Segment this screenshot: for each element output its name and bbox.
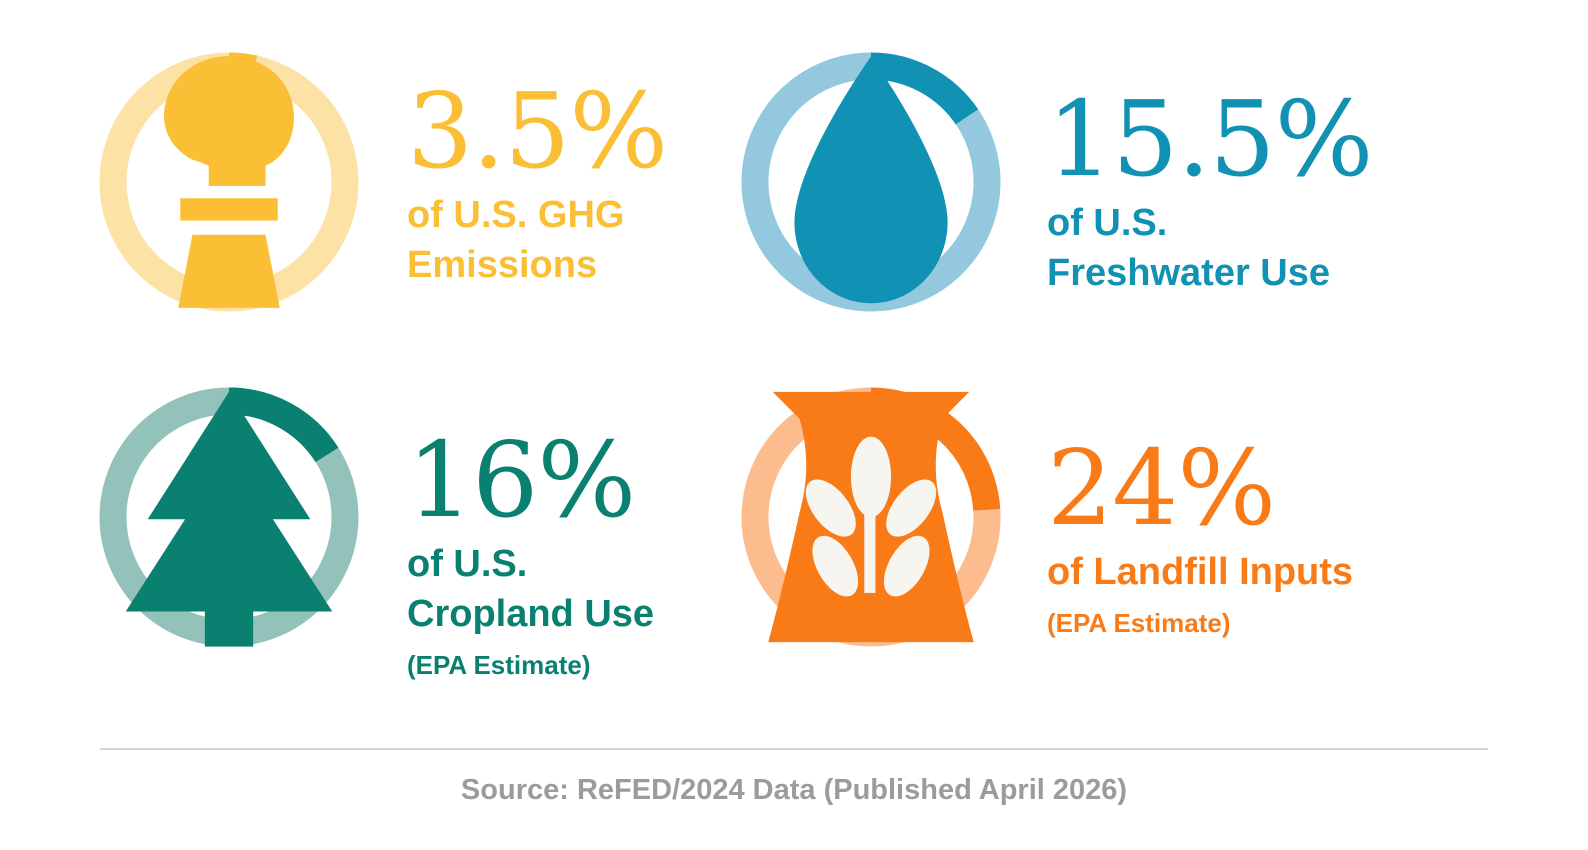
donut-svg-ghg	[95, 48, 363, 316]
footer: Source: ReFED/2024 Data (Published April…	[0, 740, 1588, 850]
infographic-root: 3.5% of U.S. GHG Emissions	[0, 0, 1588, 850]
donut-svg-landfill	[737, 383, 1005, 651]
donut-chart-cropland	[95, 383, 363, 651]
stat-note-landfill: (EPA Estimate)	[1047, 605, 1231, 641]
stat-label-ghg-line1: of U.S. GHG	[407, 194, 624, 236]
stat-text-freshwater: 15.5% of U.S. Freshwater Use	[1005, 48, 1435, 298]
stat-label-ghg: of U.S. GHG Emissions	[407, 190, 624, 290]
stat-label-cropland: of U.S. Cropland Use	[407, 539, 654, 639]
donut-svg-freshwater	[737, 48, 1005, 316]
stat-text-landfill: 24% of Landfill Inputs (EPA Estimate)	[1005, 383, 1435, 642]
stat-label-freshwater-line2: Freshwater Use	[1047, 252, 1330, 294]
stat-value-cropland: 16%	[407, 427, 635, 533]
stat-label-landfill-line1: of Landfill Inputs	[1047, 551, 1353, 593]
donut-chart-landfill	[737, 383, 1005, 651]
footer-divider	[100, 748, 1488, 750]
stat-value-freshwater: 15.5%	[1047, 86, 1372, 192]
donut-chart-ghg	[95, 48, 363, 316]
donut-chart-freshwater	[737, 48, 1005, 316]
stat-note-cropland: (EPA Estimate)	[407, 647, 591, 683]
donut-track-ghg	[113, 66, 345, 298]
stat-value-landfill: 24%	[1047, 435, 1275, 541]
stat-label-cropland-line2: Cropland Use	[407, 593, 654, 635]
stat-card-freshwater: 15.5% of U.S. Freshwater Use	[735, 48, 1435, 383]
stat-card-cropland: 16% of U.S. Cropland Use (EPA Estimate)	[95, 383, 735, 718]
donut-svg-cropland	[95, 383, 363, 651]
stat-label-freshwater: of U.S. Freshwater Use	[1047, 198, 1330, 298]
stat-grid: 3.5% of U.S. GHG Emissions	[0, 0, 1588, 740]
source-attribution: Source: ReFED/2024 Data (Published April…	[0, 774, 1588, 807]
stat-label-freshwater-line1: of U.S.	[1047, 202, 1167, 244]
stat-label-ghg-line2: Emissions	[407, 244, 597, 286]
stat-label-landfill: of Landfill Inputs	[1047, 547, 1353, 597]
stat-card-landfill: 24% of Landfill Inputs (EPA Estimate)	[735, 383, 1435, 718]
stat-text-ghg: 3.5% of U.S. GHG Emissions	[363, 48, 735, 290]
stat-value-ghg: 3.5%	[407, 78, 667, 184]
stat-text-cropland: 16% of U.S. Cropland Use (EPA Estimate)	[363, 383, 735, 684]
stat-card-ghg: 3.5% of U.S. GHG Emissions	[95, 48, 735, 383]
stat-label-cropland-line1: of U.S.	[407, 543, 527, 585]
